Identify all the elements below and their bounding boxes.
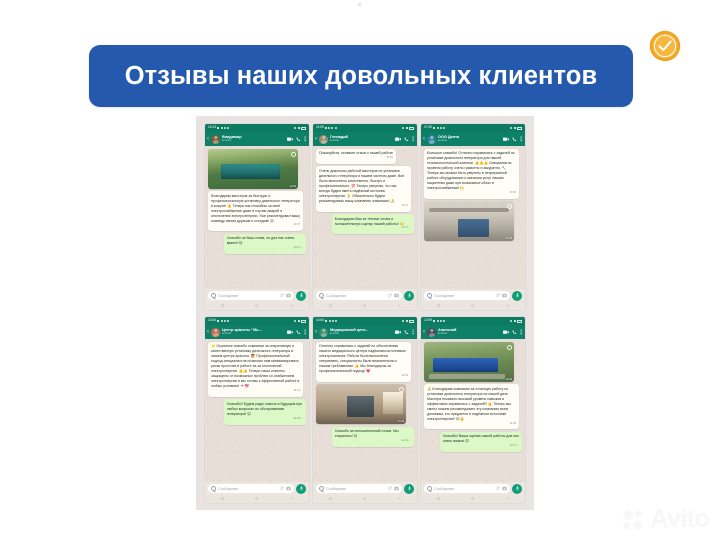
screenshots-grid: 14:13‹Владимирв сети10:04Благодарим маст… xyxy=(196,124,534,503)
message-time: 17:30 xyxy=(427,192,516,195)
back-arrow-icon[interactable]: ‹ xyxy=(315,329,317,335)
status-icon xyxy=(227,127,229,129)
chat-screenshot: 13:44‹Центр красоты "Мь...в сети🌟 Огромн… xyxy=(205,317,309,503)
chat-header: ‹Центр красоты "Мь...в сети xyxy=(205,325,309,339)
chat-header-meta[interactable]: Владимирв сети xyxy=(222,135,285,143)
android-nav-bar xyxy=(205,302,309,310)
status-bar-clock: 13:44 xyxy=(208,319,216,322)
back-arrow-icon[interactable]: ‹ xyxy=(207,136,209,142)
video-call-icon[interactable] xyxy=(287,330,293,334)
message-time: 12:02 xyxy=(505,378,512,381)
message-time: 11:13 xyxy=(319,205,408,208)
message-composer: Сообщение xyxy=(421,289,525,302)
status-icon xyxy=(443,127,445,129)
status-icon xyxy=(221,320,223,322)
android-nav-bar xyxy=(421,302,525,310)
smiley-icon[interactable] xyxy=(427,486,432,491)
chat-header: ‹Медицинский цент...в сети xyxy=(313,325,417,339)
title-banner: Отзывы наших довольных клиентов xyxy=(89,45,633,107)
status-icon xyxy=(443,320,445,322)
more-vertical-icon[interactable] xyxy=(520,329,522,335)
message-composer: Сообщение xyxy=(205,289,309,302)
paperclip-icon[interactable] xyxy=(495,486,500,491)
message-text: Благодарим мастеров за быструю и професс… xyxy=(211,194,300,223)
status-bar-left: 11:09 xyxy=(316,126,337,129)
microphone-button[interactable] xyxy=(512,484,522,494)
blue-generator-photo[interactable]: 12:02 xyxy=(424,342,514,382)
video-call-icon[interactable] xyxy=(395,137,401,141)
nav-home-icon[interactable] xyxy=(363,304,366,307)
generator-photo[interactable]: 10:04 xyxy=(208,149,298,189)
message-input-field[interactable]: Сообщение xyxy=(208,484,294,493)
nav-recents-icon[interactable] xyxy=(329,304,332,307)
microphone-button[interactable] xyxy=(296,484,306,494)
message-time: 11:17 ✓ xyxy=(335,227,411,230)
message-input-placeholder: Сообщение xyxy=(326,487,385,491)
outgoing-message-bubble[interactable]: Спасибо за положительный отзыв. Мы стара… xyxy=(332,427,414,447)
photo-image xyxy=(316,384,406,424)
chat-messages: 🌟 Огромное спасибо компании за оперативн… xyxy=(205,339,309,482)
status-bar-clock: 12:09 xyxy=(424,319,432,322)
avito-wordmark: Avito xyxy=(650,507,709,532)
contact-status: в сети xyxy=(222,139,285,143)
paperclip-icon[interactable] xyxy=(279,486,284,491)
video-call-icon[interactable] xyxy=(287,137,293,141)
avatar[interactable] xyxy=(427,135,436,144)
wifi-icon xyxy=(298,320,300,322)
status-bar-clock: 11:09 xyxy=(316,126,324,129)
outgoing-message-bubble[interactable]: Благодарим Вас за тёплые слова и положит… xyxy=(332,214,414,234)
chat-screenshot: 14:04‹Медицинский цент...в сетиОтлично с… xyxy=(313,317,417,503)
status-icon xyxy=(332,320,334,322)
phone-call-icon[interactable] xyxy=(404,137,409,142)
chat-header-actions xyxy=(503,136,522,142)
status-bar: 14:13 xyxy=(205,124,309,132)
incoming-message-bubble[interactable]: Пожалуйста, оставьте отзыв о нашей работ… xyxy=(316,149,396,164)
microphone-button[interactable] xyxy=(296,291,306,301)
outgoing-message-bubble[interactable]: Спасибо!! Будем рады помочь в будущем пр… xyxy=(224,399,306,424)
nav-recents-icon[interactable] xyxy=(437,304,440,307)
chat-screenshot: 17:30‹ООО Дентав сетиБольшое спасибо! От… xyxy=(421,124,525,310)
message-input-field[interactable]: Сообщение xyxy=(424,291,510,300)
download-icon[interactable] xyxy=(291,152,296,157)
message-time: 14:11 xyxy=(398,420,405,423)
wifi-icon xyxy=(514,127,516,129)
more-vertical-icon[interactable] xyxy=(304,136,306,142)
wifi-icon xyxy=(406,320,408,322)
nav-recents-icon[interactable] xyxy=(437,497,440,500)
message-composer: Сообщение xyxy=(205,482,309,495)
medical-room-photo[interactable]: 14:11 xyxy=(316,384,406,424)
status-bar-left: 13:44 xyxy=(208,319,229,322)
status-bar-right xyxy=(294,320,306,323)
contact-status: в сети xyxy=(330,332,393,336)
incoming-message-bubble[interactable]: Большое спасибо! Отлично справились с за… xyxy=(424,149,519,199)
status-bar: 17:30 xyxy=(421,124,525,132)
status-bar-clock: 14:13 xyxy=(208,126,216,129)
smiley-icon[interactable] xyxy=(211,293,216,298)
status-icon xyxy=(331,127,333,129)
more-vertical-icon[interactable] xyxy=(412,136,414,142)
incoming-message-bubble[interactable]: 🌟 Огромное спасибо компании за оперативн… xyxy=(208,342,303,397)
message-composer: Сообщение xyxy=(313,289,417,302)
photo-image xyxy=(424,201,514,241)
status-icon xyxy=(335,320,337,322)
more-vertical-icon[interactable] xyxy=(304,329,306,335)
camera-icon[interactable] xyxy=(502,293,507,298)
phone-call-icon[interactable] xyxy=(296,330,301,335)
chat-screenshot: 12:09‹Анатолийв сети12:02🙏 Благодарим ко… xyxy=(421,317,525,503)
message-text: 🙏 Благодарим компанию за отличную работу… xyxy=(427,387,511,421)
download-icon[interactable] xyxy=(507,345,512,350)
phone-call-icon[interactable] xyxy=(404,330,409,335)
outgoing-message-bubble[interactable]: Спасибо! Ваша оценка нашей работы для на… xyxy=(440,432,522,452)
message-time: 10:51 xyxy=(319,157,393,160)
outgoing-message-bubble[interactable]: Спасибо за Ваш отзыв, он для нас очень в… xyxy=(224,234,306,254)
status-icon xyxy=(325,320,327,322)
status-bar-right xyxy=(402,320,414,323)
status-icon xyxy=(440,127,442,129)
more-vertical-icon[interactable] xyxy=(520,136,522,142)
battery-icon xyxy=(409,320,414,323)
chat-messages: Отлично справилась с задачей по обеспече… xyxy=(313,339,417,482)
nav-recents-icon[interactable] xyxy=(329,497,332,500)
chat-header-meta[interactable]: Геннадийв сети xyxy=(330,135,393,143)
status-bar: 14:04 xyxy=(313,317,417,325)
smiley-icon[interactable] xyxy=(211,486,216,491)
message-input-field[interactable]: Сообщение xyxy=(316,291,402,300)
phone-call-icon[interactable] xyxy=(512,330,517,335)
signal-icon xyxy=(510,320,512,322)
nav-back-icon[interactable] xyxy=(290,497,293,500)
chat-header: ‹Геннадийв сети xyxy=(313,132,417,146)
avatar[interactable] xyxy=(319,328,328,337)
status-icon xyxy=(217,320,219,322)
nav-home-icon[interactable] xyxy=(363,497,366,500)
android-nav-bar xyxy=(421,495,525,503)
chat-header-actions xyxy=(287,329,306,335)
message-input-field[interactable]: Сообщение xyxy=(208,291,294,300)
avito-logo-icon xyxy=(621,508,645,532)
message-time: 12:11 ✓ xyxy=(443,445,519,448)
camera-icon[interactable] xyxy=(394,486,399,491)
chat-messages: 12:02🙏 Благодарим компанию за отличную р… xyxy=(421,339,525,482)
message-time: 14:04 xyxy=(319,375,408,378)
message-text: Отлично справилась с задачей по обеспече… xyxy=(319,344,406,373)
nav-back-icon[interactable] xyxy=(506,304,509,307)
camera-icon[interactable] xyxy=(394,293,399,298)
status-icon xyxy=(437,320,439,322)
chat-header-meta[interactable]: ООО Дентав сети xyxy=(438,135,501,143)
video-call-icon[interactable] xyxy=(503,137,509,141)
wifi-icon xyxy=(298,127,300,129)
status-bar: 13:44 xyxy=(205,317,309,325)
status-bar-right xyxy=(402,127,414,130)
paperclip-icon[interactable] xyxy=(387,293,392,298)
chat-header-meta[interactable]: Анатолийв сети xyxy=(438,328,501,336)
message-input-placeholder: Сообщение xyxy=(434,294,493,298)
video-call-icon[interactable] xyxy=(395,330,401,334)
chat-header-actions xyxy=(503,329,522,335)
page-title: Отзывы наших довольных клиентов xyxy=(125,62,598,91)
microphone-button[interactable] xyxy=(404,484,414,494)
status-icon xyxy=(221,127,223,129)
smiley-icon[interactable] xyxy=(319,486,324,491)
camera-icon[interactable] xyxy=(286,293,291,298)
nav-back-icon[interactable] xyxy=(398,304,401,307)
status-icon xyxy=(433,320,435,322)
message-input-placeholder: Сообщение xyxy=(218,487,277,491)
nav-recents-icon[interactable] xyxy=(221,497,224,500)
message-input-placeholder: Сообщение xyxy=(218,294,277,298)
message-time: 10:04 xyxy=(289,185,296,188)
wifi-icon xyxy=(406,127,408,129)
status-bar-right xyxy=(510,127,522,130)
avatar[interactable] xyxy=(427,328,436,337)
status-bar: 12:09 xyxy=(421,317,525,325)
message-composer: Сообщение xyxy=(313,482,417,495)
message-time: 13:46 ✓ xyxy=(227,418,303,421)
battery-icon xyxy=(517,320,522,323)
back-arrow-icon[interactable]: ‹ xyxy=(315,136,317,142)
status-icon xyxy=(325,127,327,129)
message-text: Спасибо!! Будем рады помочь в будущем пр… xyxy=(227,402,302,416)
chat-header-meta[interactable]: Центр красоты "Мь...в сети xyxy=(222,328,285,336)
status-bar-right xyxy=(294,127,306,130)
avatar[interactable] xyxy=(211,135,220,144)
signal-icon xyxy=(294,320,296,322)
paperclip-icon[interactable] xyxy=(495,293,500,298)
message-text: Спасибо за Ваш отзыв, он для нас очень в… xyxy=(227,236,295,245)
nav-back-icon[interactable] xyxy=(290,304,293,307)
message-time: 13:44 xyxy=(211,390,300,393)
more-vertical-icon[interactable] xyxy=(412,329,414,335)
back-arrow-icon[interactable]: ‹ xyxy=(423,329,425,335)
signal-icon xyxy=(402,127,404,129)
message-time: 12:38 xyxy=(505,237,512,240)
back-arrow-icon[interactable]: ‹ xyxy=(423,136,425,142)
message-input-placeholder: Сообщение xyxy=(326,294,385,298)
verified-check-badge xyxy=(648,29,682,63)
status-bar-clock: 14:04 xyxy=(316,319,324,322)
status-icon xyxy=(335,127,337,129)
phone-call-icon[interactable] xyxy=(296,137,301,142)
message-text: Спасибо за положительный отзыв. Мы стара… xyxy=(335,429,399,438)
camera-icon[interactable] xyxy=(286,486,291,491)
paperclip-icon[interactable] xyxy=(279,293,284,298)
battery-icon xyxy=(517,127,522,130)
smiley-icon[interactable] xyxy=(427,293,432,298)
message-time: 12:09 xyxy=(427,423,516,426)
avatar[interactable] xyxy=(319,135,328,144)
battery-icon xyxy=(301,320,306,323)
status-icon xyxy=(440,320,442,322)
garage-install-photo[interactable]: 12:38 xyxy=(424,201,514,241)
avatar[interactable] xyxy=(211,328,220,337)
chat-screenshot: 14:13‹Владимирв сети10:04Благодарим маст… xyxy=(205,124,309,310)
message-text: Большое спасибо! Отлично справились с за… xyxy=(427,151,515,190)
message-time: 10:07 xyxy=(211,224,300,227)
phone-call-icon[interactable] xyxy=(512,137,517,142)
back-arrow-icon[interactable]: ‹ xyxy=(207,329,209,335)
status-icon xyxy=(224,320,226,322)
message-input-placeholder: Сообщение xyxy=(434,487,493,491)
smiley-icon[interactable] xyxy=(319,293,324,298)
decorative-mark xyxy=(358,3,361,6)
message-text: Спасибо! Ваша оценка нашей работы для на… xyxy=(443,434,519,443)
contact-status: в сети xyxy=(438,139,501,143)
chat-messages: 10:04Благодарим мастеров за быструю и пр… xyxy=(205,146,309,289)
signal-icon xyxy=(294,127,296,129)
chat-header: ‹Владимирв сети xyxy=(205,132,309,146)
nav-recents-icon[interactable] xyxy=(221,304,224,307)
microphone-button[interactable] xyxy=(512,291,522,301)
status-bar: 11:09 xyxy=(313,124,417,132)
chat-header: ‹ООО Дентав сети xyxy=(421,132,525,146)
nav-home-icon[interactable] xyxy=(471,497,474,500)
chat-header-meta[interactable]: Медицинский цент...в сети xyxy=(330,328,393,336)
avito-watermark: Avito xyxy=(621,507,709,532)
status-icon xyxy=(433,127,435,129)
nav-back-icon[interactable] xyxy=(506,497,509,500)
chat-header-actions xyxy=(395,329,414,335)
android-nav-bar xyxy=(313,495,417,503)
status-icon xyxy=(328,127,330,129)
microphone-button[interactable] xyxy=(404,291,414,301)
chat-header-actions xyxy=(287,136,306,142)
signal-icon xyxy=(510,127,512,129)
status-bar-left: 12:09 xyxy=(424,319,445,322)
message-composer: Сообщение xyxy=(421,482,525,495)
status-bar-left: 14:04 xyxy=(316,319,337,322)
message-text: Пожалуйста, оставьте отзыв о нашей работ… xyxy=(319,151,393,155)
status-bar-right xyxy=(510,320,522,323)
status-icon xyxy=(329,320,331,322)
message-text: Очень довольны работой мастеров по устан… xyxy=(319,169,404,203)
incoming-message-bubble[interactable]: Очень довольны работой мастеров по устан… xyxy=(316,166,411,211)
contact-status: в сети xyxy=(438,332,501,336)
paperclip-icon[interactable] xyxy=(387,486,392,491)
signal-icon xyxy=(402,320,404,322)
chat-screenshot: 11:09‹Геннадийв сетиПожалуйста, оставьте… xyxy=(313,124,417,310)
message-text: Благодарим Вас за тёплые слова и положит… xyxy=(335,217,404,226)
status-bar-left: 14:13 xyxy=(208,126,229,129)
chat-messages: Большое спасибо! Отлично справились с за… xyxy=(421,146,525,289)
camera-icon[interactable] xyxy=(502,486,507,491)
status-icon xyxy=(217,127,219,129)
chat-header: ‹Анатолийв сети xyxy=(421,325,525,339)
status-bar-clock: 17:30 xyxy=(424,126,432,129)
android-nav-bar xyxy=(205,495,309,503)
status-icon xyxy=(437,127,439,129)
nav-back-icon[interactable] xyxy=(398,497,401,500)
screenshots-collage: 14:13‹Владимирв сети10:04Благодарим маст… xyxy=(196,116,534,510)
photo-image xyxy=(424,342,514,382)
android-nav-bar xyxy=(313,302,417,310)
status-icon xyxy=(227,320,229,322)
message-input-field[interactable]: Сообщение xyxy=(424,484,510,493)
battery-icon xyxy=(409,127,414,130)
nav-home-icon[interactable] xyxy=(471,304,474,307)
chat-messages: Пожалуйста, оставьте отзыв о нашей работ… xyxy=(313,146,417,289)
battery-icon xyxy=(301,127,306,130)
chat-header-actions xyxy=(395,136,414,142)
incoming-message-bubble[interactable]: 🙏 Благодарим компанию за отличную работу… xyxy=(424,384,519,429)
contact-status: в сети xyxy=(222,332,285,336)
contact-status: в сети xyxy=(330,139,393,143)
incoming-message-bubble[interactable]: Отлично справилась с задачей по обеспече… xyxy=(316,342,411,382)
photo-image xyxy=(208,149,298,189)
nav-home-icon[interactable] xyxy=(255,497,258,500)
status-icon xyxy=(224,127,226,129)
nav-home-icon[interactable] xyxy=(255,304,258,307)
status-bar-left: 17:30 xyxy=(424,126,445,129)
review-collage-page: Отзывы наших довольных клиентов 14:13‹Вл… xyxy=(0,0,719,540)
incoming-message-bubble[interactable]: Благодарим мастеров за быструю и професс… xyxy=(208,191,303,231)
video-call-icon[interactable] xyxy=(503,330,509,334)
message-input-field[interactable]: Сообщение xyxy=(316,484,402,493)
wifi-icon xyxy=(514,320,516,322)
message-time: 14:13 ✓ xyxy=(335,440,411,443)
message-text: 🌟 Огромное спасибо компании за оперативн… xyxy=(211,344,299,388)
message-time: 10:11 ✓ xyxy=(227,247,303,250)
